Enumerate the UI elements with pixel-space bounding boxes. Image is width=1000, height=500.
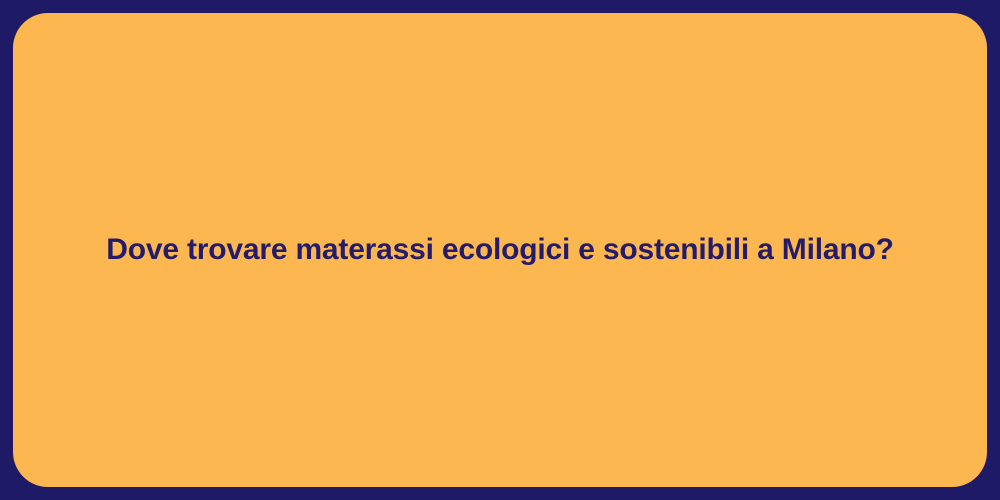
banner-heading: Dove trovare materassi ecologici e soste…: [66, 231, 933, 269]
banner-outer-frame: Dove trovare materassi ecologici e soste…: [0, 0, 1000, 500]
banner-panel: Dove trovare materassi ecologici e soste…: [13, 13, 987, 487]
